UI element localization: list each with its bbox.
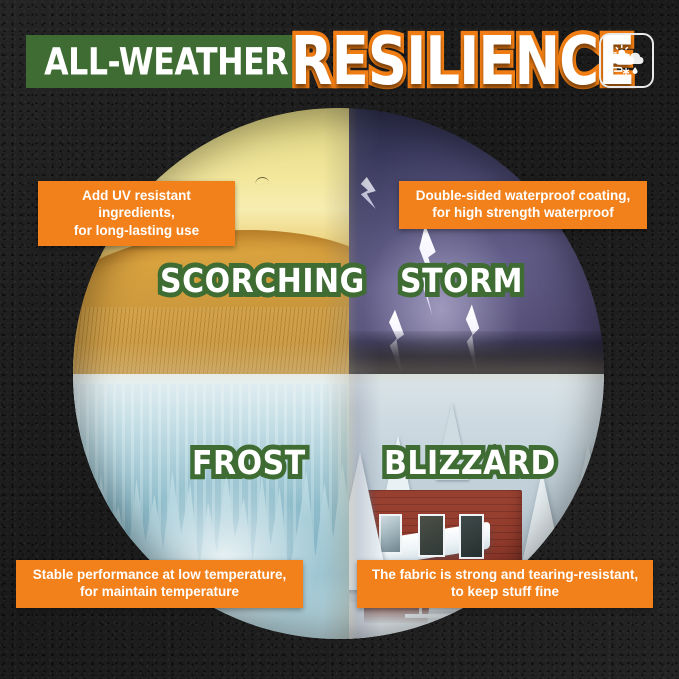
sand-dune-shape xyxy=(73,230,349,373)
weather-sun-cloud-snow-rain-icon xyxy=(608,42,646,80)
storm-horizon xyxy=(349,331,604,373)
zone-label-storm: STORM xyxy=(400,262,523,301)
feature-caption-storm: Double-sided waterproof coating, for hig… xyxy=(399,181,647,229)
scene-storm xyxy=(349,108,604,374)
weather-icon-badge xyxy=(599,33,654,88)
poster-header: ALL-WEATHER RESILIENCE xyxy=(26,33,654,91)
bird-silhouette-icon xyxy=(255,176,270,184)
raindrop-shape xyxy=(632,67,637,74)
sand-ripple-texture xyxy=(73,307,349,374)
lightning-bolt-icon xyxy=(361,177,376,209)
cabin-window xyxy=(418,514,445,556)
cloud-back-shape xyxy=(629,52,643,63)
product-feature-poster: ALL-WEATHER RESILIENCE xyxy=(0,0,679,679)
zone-label-frost: FROST xyxy=(192,444,306,483)
feature-caption-frost: Stable performance at low temperature, f… xyxy=(16,560,303,608)
feature-caption-scorching: Add UV resistant ingredients, for long-l… xyxy=(38,181,235,246)
page-title-primary: ALL-WEATHER xyxy=(44,39,288,83)
snowy-pine-tree xyxy=(560,444,604,576)
zone-label-scorching: SCORCHING xyxy=(160,262,365,301)
title-primary-plate: ALL-WEATHER xyxy=(26,35,306,88)
page-title-accent: RESILIENCE xyxy=(291,22,635,100)
feature-caption-blizzard: The fabric is strong and tearing-resista… xyxy=(357,560,653,608)
snowflake-shape xyxy=(623,68,628,74)
cabin-window xyxy=(459,514,484,559)
zone-label-blizzard: BLIZZARD xyxy=(384,444,556,483)
